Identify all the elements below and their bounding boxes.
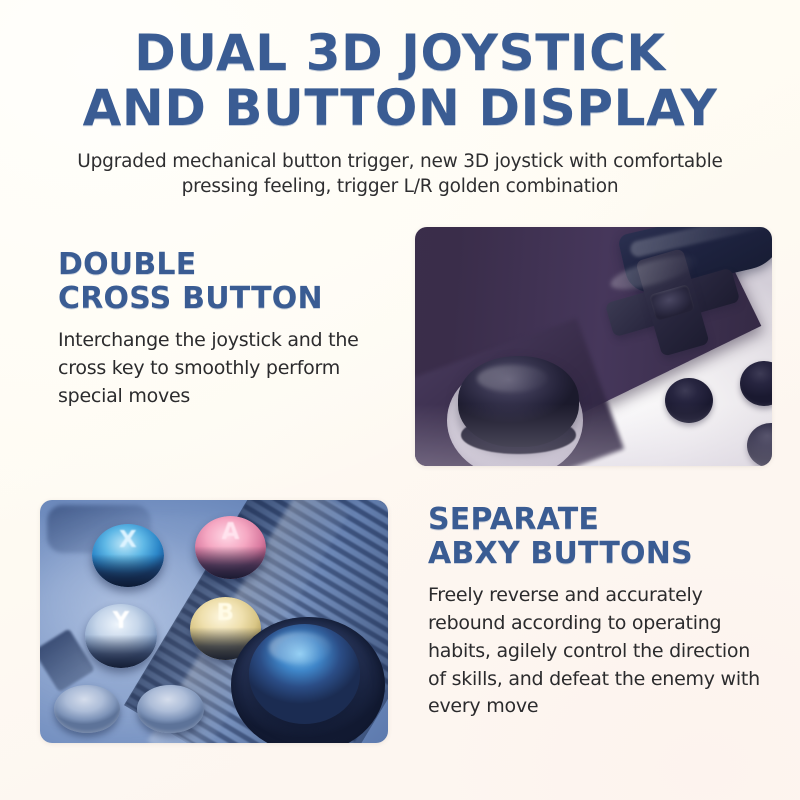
photo-content <box>415 227 772 466</box>
poster-subtitle: Upgraded mechanical button trigger, new … <box>0 150 800 200</box>
section-separate-abxy-buttons-text: SEPARATE ABXY BUTTONS Freely reverse and… <box>428 503 772 721</box>
section-double-cross-button-heading: DOUBLE CROSS BUTTON <box>58 248 388 316</box>
abxy-button-y: Y <box>85 604 156 667</box>
secondary-button <box>54 685 120 734</box>
photo-bottom-vignette <box>415 404 772 466</box>
section-double-cross-button-body: Interchange the joystick and the cross k… <box>58 327 388 410</box>
blue-controller-abxy-photo: X A Y B <box>40 500 388 743</box>
section-double-cross-button-text: DOUBLE CROSS BUTTON Interchange the joys… <box>58 248 388 411</box>
poster-title-line-1: DUAL 3D JOYSTICK <box>0 28 800 79</box>
poster-header: DUAL 3D JOYSTICK AND BUTTON DISPLAY Upgr… <box>0 28 800 200</box>
heading-line-2: CROSS BUTTON <box>58 282 388 316</box>
button-rim <box>85 604 156 667</box>
section-separate-abxy-buttons-body: Freely reverse and accurately rebound ac… <box>428 582 772 721</box>
product-feature-poster: DUAL 3D JOYSTICK AND BUTTON DISPLAY Upgr… <box>0 0 800 800</box>
poster-title-line-2: AND BUTTON DISPLAY <box>0 83 800 134</box>
photo-content: X A Y B <box>40 500 388 743</box>
heading-line-2: ABXY BUTTONS <box>428 537 772 571</box>
heading-line-1: SEPARATE <box>428 502 599 537</box>
button-rim <box>195 516 266 579</box>
button-rim <box>92 524 163 587</box>
white-controller-dpad-photo <box>415 227 772 466</box>
abxy-button-a: A <box>195 516 266 579</box>
abxy-button-x: X <box>92 524 163 587</box>
section-separate-abxy-buttons-heading: SEPARATE ABXY BUTTONS <box>428 503 772 571</box>
heading-line-1: DOUBLE <box>58 247 196 282</box>
analog-joystick-cap <box>249 624 360 724</box>
secondary-button <box>137 685 203 734</box>
